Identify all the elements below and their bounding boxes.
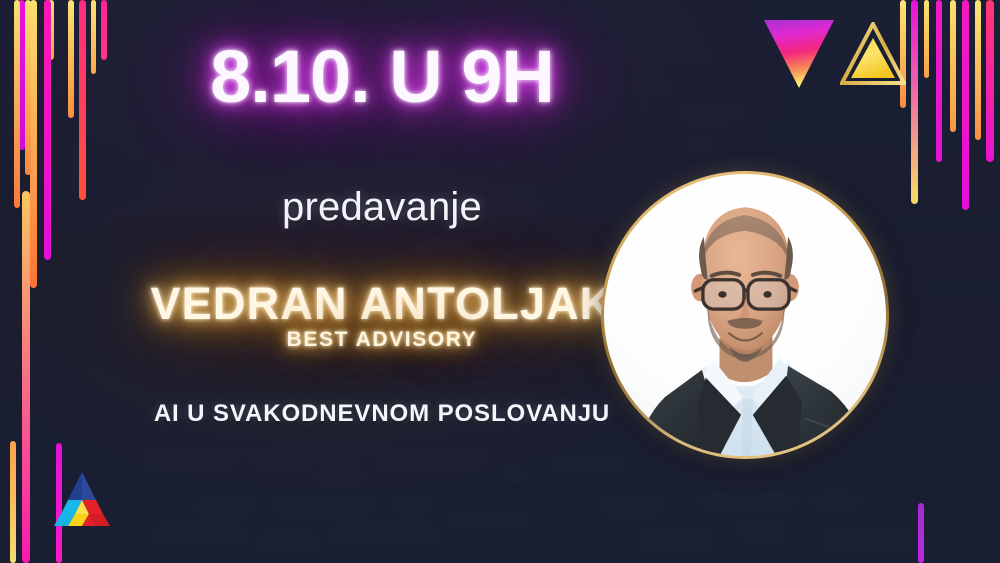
texture-block-13	[156, 526, 242, 542]
speaker-portrait-frame	[601, 171, 889, 459]
texture-block-21	[684, 104, 744, 122]
texture-block-12	[812, 492, 860, 510]
poster-canvas: 8.10. U 9H predavanje VEDRAN ANTOLJAK BE…	[0, 0, 1000, 563]
texture-block-1	[252, 452, 312, 472]
speaker-portrait-photo	[604, 174, 886, 456]
decorative-bar-left-8	[91, 0, 96, 74]
headline-date-time: 8.10. U 9H	[122, 40, 642, 114]
decorative-bar-left-6	[68, 0, 74, 118]
texture-block-3	[376, 452, 486, 472]
event-tagline: AI U SVAKODNEVNOM POSLOVANJU	[82, 400, 682, 428]
decorative-bar-right-4	[950, 0, 956, 132]
texture-block-24	[420, 236, 466, 252]
decorative-bar-right-8	[918, 503, 924, 563]
event-type-label: predavanje	[122, 185, 642, 230]
decorative-bar-left-1	[30, 0, 37, 288]
decorative-bar-left-3	[10, 441, 16, 563]
triangle-down-gradient-icon	[762, 18, 836, 90]
decorative-bar-right-1	[911, 0, 918, 204]
texture-block-9	[448, 510, 524, 526]
decorative-bar-right-5	[962, 0, 969, 210]
texture-block-8	[392, 496, 432, 514]
triangle-up-outline-gold-icon	[840, 22, 906, 86]
decorative-bar-left-4	[22, 191, 30, 563]
texture-block-0	[140, 452, 236, 472]
texture-block-14	[262, 534, 314, 550]
texture-block-16	[640, 530, 712, 546]
decorative-bar-left-13	[14, 0, 20, 208]
texture-block-4	[500, 466, 530, 484]
texture-block-23	[212, 240, 282, 256]
decorative-bar-left-10	[44, 0, 51, 260]
texture-block-7	[272, 496, 374, 514]
texture-block-10	[600, 496, 664, 514]
speaker-name: VEDRAN ANTOLJAK	[102, 278, 662, 330]
decorative-bar-right-6	[975, 0, 981, 140]
texture-block-26	[170, 362, 222, 378]
texture-block-22	[690, 140, 728, 156]
texture-block-6	[196, 496, 254, 514]
decorative-bar-right-3	[936, 0, 942, 162]
speaker-organization: BEST ADVISORY	[102, 328, 662, 352]
decorative-bar-right-7	[986, 0, 994, 162]
decorative-bar-left-9	[101, 0, 107, 60]
decorative-bar-left-11	[25, 0, 31, 175]
texture-block-2	[318, 466, 362, 484]
faceted-triangle-logo-icon	[50, 470, 114, 528]
texture-block-17	[740, 522, 784, 538]
texture-block-25	[470, 360, 554, 376]
texture-block-18	[828, 530, 916, 546]
texture-block-11	[700, 492, 796, 510]
decorative-bar-right-2	[924, 0, 929, 78]
texture-block-15	[332, 526, 436, 542]
decorative-bar-left-7	[79, 0, 86, 200]
